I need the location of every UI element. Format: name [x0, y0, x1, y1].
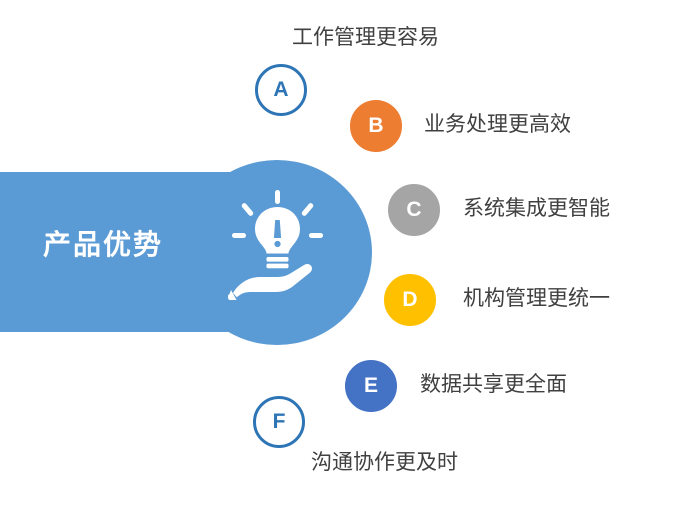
diagram-canvas: 产品优势 [0, 0, 673, 515]
node-letter-e: E [364, 375, 378, 396]
node-letter-f: F [273, 411, 286, 432]
node-circle-a[interactable]: A [255, 64, 307, 116]
node-circle-d[interactable]: D [384, 274, 436, 326]
node-letter-a: A [273, 79, 288, 100]
lightbulb-in-hand-icon [228, 190, 328, 300]
node-label-f: 沟通协作更及时 [311, 450, 458, 476]
node-label-a: 工作管理更容易 [292, 25, 439, 51]
node-circle-e[interactable]: E [345, 360, 397, 412]
page-title: 产品优势 [8, 228, 198, 262]
node-label-e: 数据共享更全面 [420, 372, 567, 398]
node-circle-c[interactable]: C [388, 184, 440, 236]
node-letter-b: B [368, 115, 383, 136]
node-label-b: 业务处理更高效 [424, 112, 571, 138]
node-letter-d: D [402, 289, 417, 310]
node-label-c: 系统集成更智能 [463, 196, 610, 222]
node-circle-f[interactable]: F [253, 396, 305, 448]
node-letter-c: C [406, 199, 421, 220]
node-label-d: 机构管理更统一 [463, 286, 610, 312]
node-circle-b[interactable]: B [350, 100, 402, 152]
